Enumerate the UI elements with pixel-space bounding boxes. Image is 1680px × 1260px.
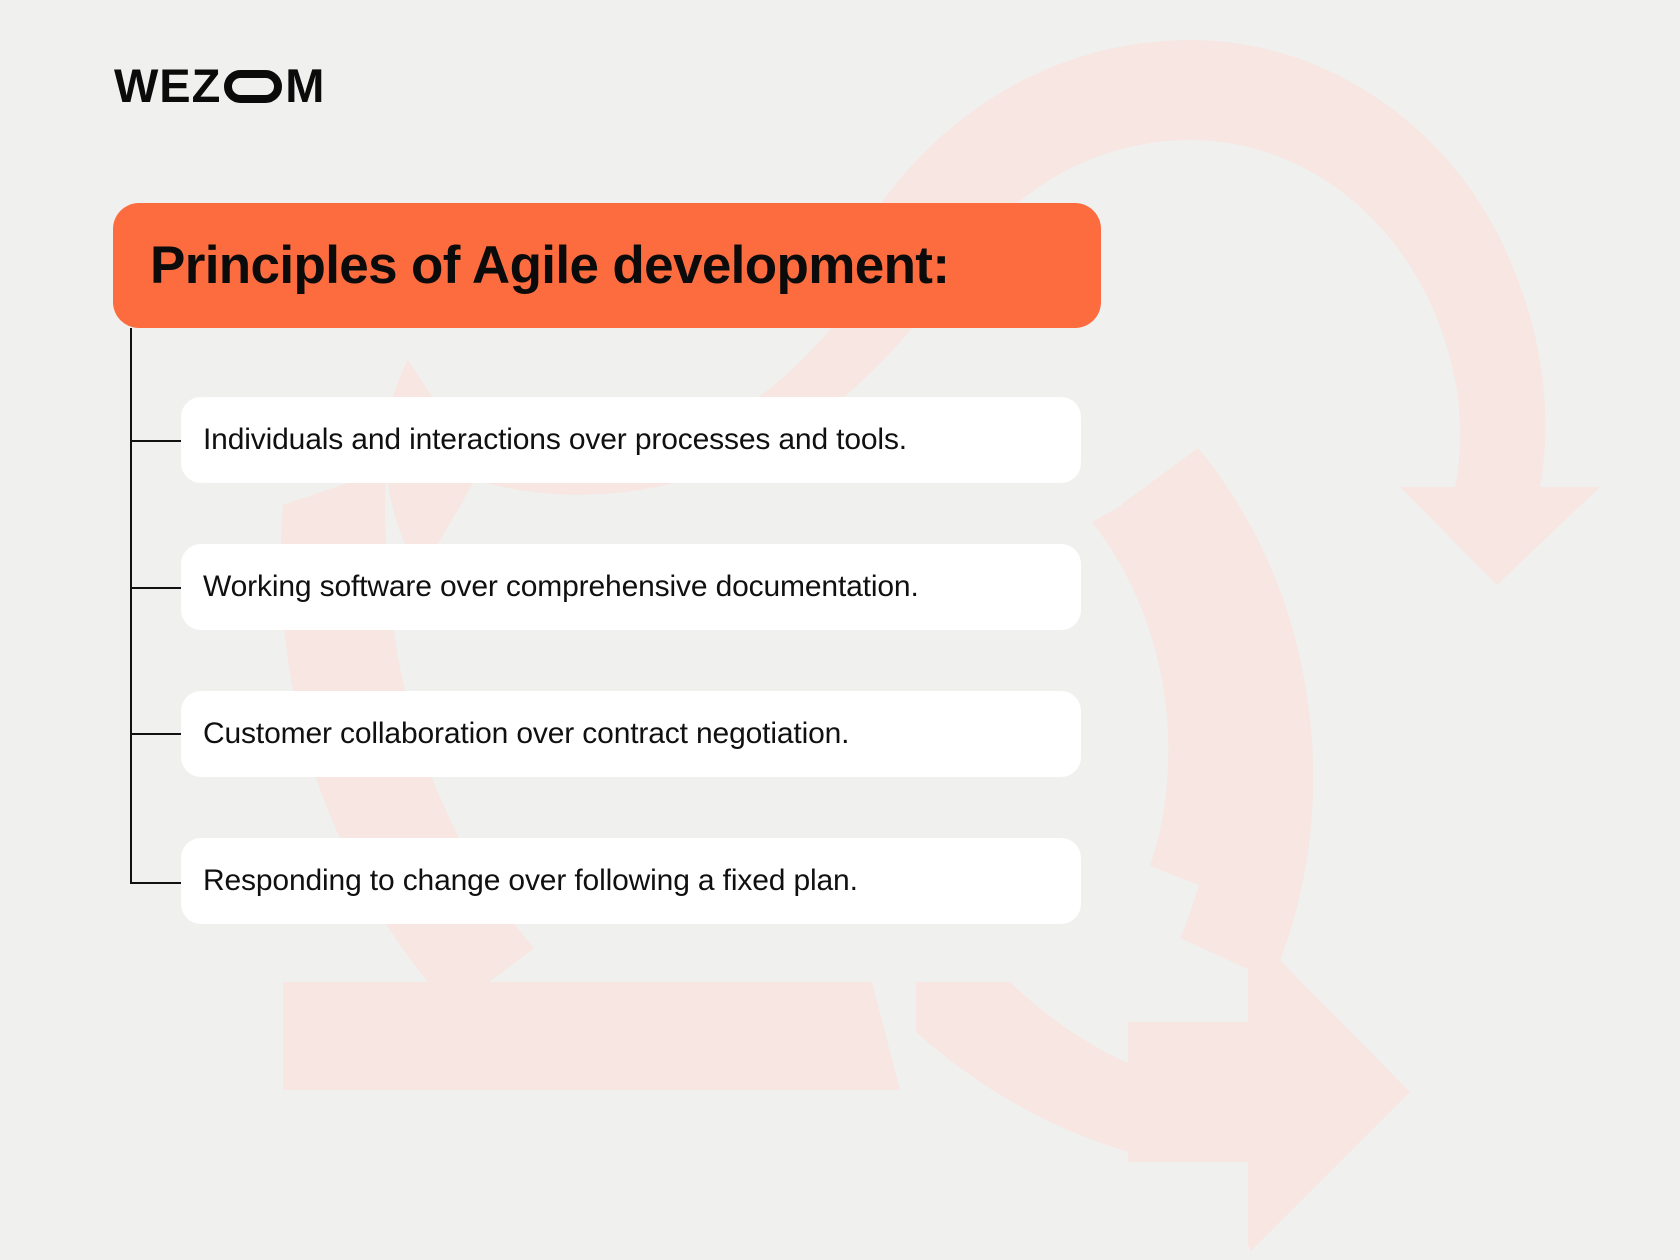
principle-card-3: Customer collaboration over contract neg… [181, 691, 1081, 777]
principle-text-1: Individuals and interactions over proces… [181, 422, 907, 458]
pill-o-icon [224, 70, 282, 103]
principle-card-1: Individuals and interactions over proces… [181, 397, 1081, 483]
principle-card-2: Working software over comprehensive docu… [181, 544, 1081, 630]
wezom-logo: WEZ M [114, 62, 325, 109]
logo-text: WEZ M [114, 62, 325, 109]
title-banner: Principles of Agile development: [113, 203, 1101, 328]
principle-card-4: Responding to change over following a fi… [181, 838, 1081, 924]
agile-cycle-arrows-icon [0, 0, 1680, 1260]
principle-text-4: Responding to change over following a fi… [181, 863, 858, 899]
principle-text-3: Customer collaboration over contract neg… [181, 716, 849, 752]
infographic-canvas: WEZ M Principles of Agile development: I… [0, 0, 1680, 1260]
logo-text-right: M [285, 62, 325, 109]
tree-connector-lines [0, 0, 1680, 1260]
page-title: Principles of Agile development: [113, 238, 949, 294]
principle-text-2: Working software over comprehensive docu… [181, 569, 919, 605]
logo-text-left: WEZ [114, 62, 221, 109]
